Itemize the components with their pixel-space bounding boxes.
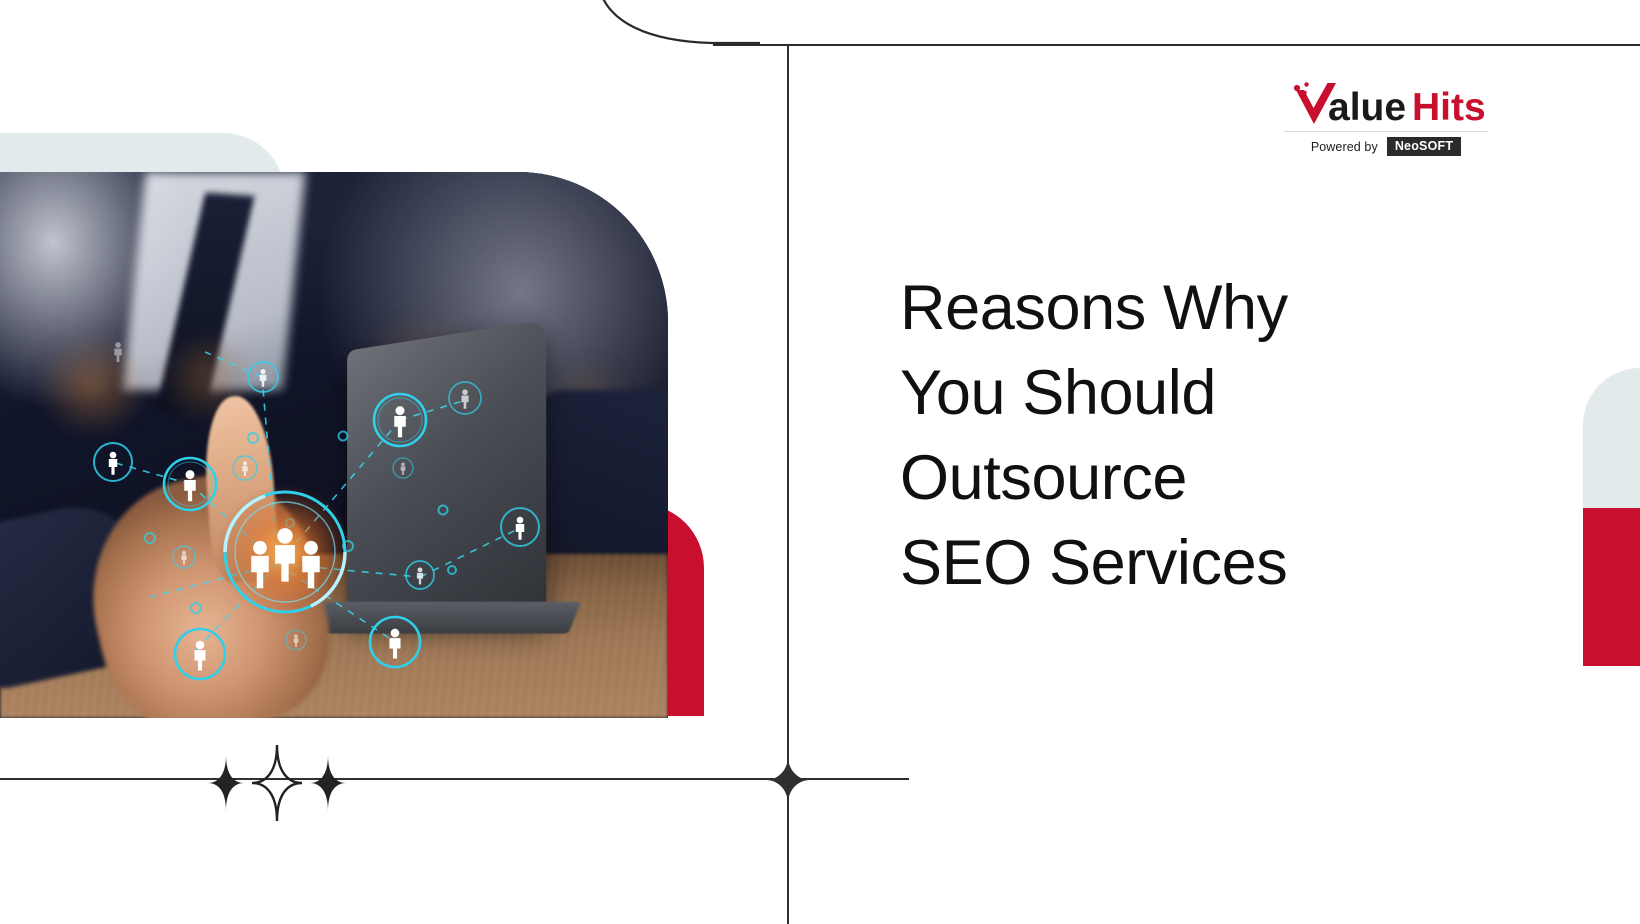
hologram-network-overlay <box>0 172 668 718</box>
poster-canvas: alue Hits Powered by NeoSOFT Reasons Why… <box>0 0 1640 924</box>
four-point-star-filled-right <box>310 755 346 811</box>
sparkle-cluster <box>160 735 420 825</box>
right-edge-red-shape <box>1583 508 1640 666</box>
hero-image <box>0 172 668 718</box>
valuehits-wordmark: alue Hits <box>1284 78 1488 126</box>
brand-logo[interactable]: alue Hits Powered by NeoSOFT <box>1284 78 1488 156</box>
four-point-star-filled-left <box>208 755 244 811</box>
powered-by-label: Powered by <box>1311 140 1378 154</box>
svg-text:alue: alue <box>1328 86 1406 126</box>
headline-line-3: Outsource <box>900 436 1520 521</box>
headline-line-4: SEO Services <box>900 521 1520 606</box>
powered-by-row: Powered by NeoSOFT <box>1284 131 1488 156</box>
page-title: Reasons Why You Should Outsource SEO Ser… <box>900 266 1520 606</box>
headline-line-1: Reasons Why <box>900 266 1520 351</box>
headline-line-2: You Should <box>900 351 1520 436</box>
neosoft-badge: NeoSOFT <box>1387 137 1461 156</box>
svg-text:Hits: Hits <box>1412 86 1486 126</box>
top-corner-curve <box>560 0 760 48</box>
right-edge-pale-shape <box>1583 368 1640 508</box>
hero-image-content <box>0 172 668 718</box>
top-horizontal-rule <box>713 44 1640 46</box>
four-point-star-outline-center <box>252 745 302 821</box>
divider-star-icon <box>762 754 814 806</box>
